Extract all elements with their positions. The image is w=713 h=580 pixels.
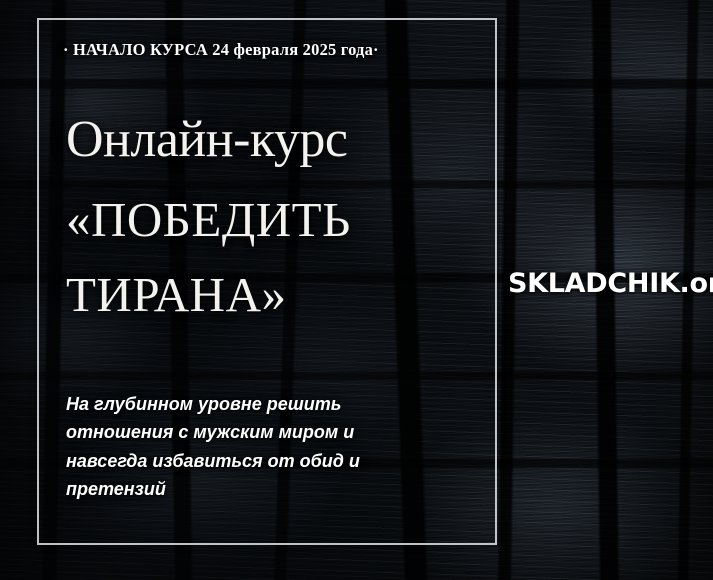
course-promo-poster: · НАЧАЛО КУРСА 24 февраля 2025 года· Онл… bbox=[0, 0, 713, 580]
title-line-online-course: Онлайн-курс bbox=[66, 114, 486, 166]
course-description-subtitle: На глубинном уровне решить отношения с м… bbox=[66, 390, 426, 504]
page-title: Онлайн-курс «ПОБЕДИТЬ ТИРАНА» bbox=[66, 114, 486, 319]
title-line-pobedit: «ПОБЕДИТЬ bbox=[66, 195, 486, 244]
title-line-tirana: ТИРАНА» bbox=[66, 270, 486, 319]
poster-content: · НАЧАЛО КУРСА 24 февраля 2025 года· Онл… bbox=[0, 0, 713, 580]
course-start-kicker: · НАЧАЛО КУРСА 24 февраля 2025 года· bbox=[63, 40, 379, 60]
site-watermark: SKLADCHIK.org bbox=[508, 268, 713, 299]
